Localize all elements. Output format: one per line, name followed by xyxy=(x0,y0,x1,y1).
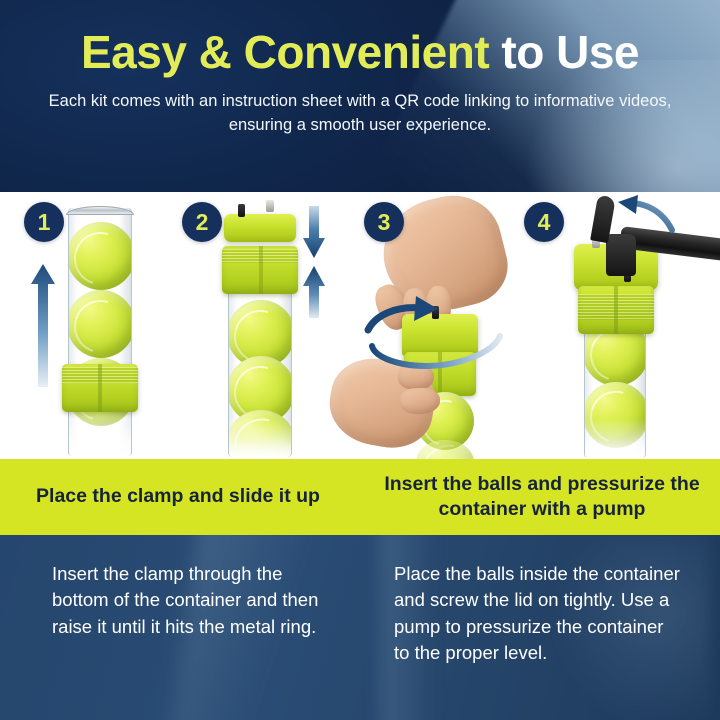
clamp-seam xyxy=(259,246,263,294)
rotate-arrow-icon xyxy=(362,288,508,374)
valve-icon xyxy=(238,204,245,217)
clamp-seam xyxy=(98,364,102,412)
page-title: Easy & Convenient to Use xyxy=(0,28,720,76)
steps-image-strip: 1 2 3 4 xyxy=(0,192,720,459)
tennis-ball xyxy=(228,410,292,457)
ball-tube xyxy=(68,208,132,456)
tennis-ball xyxy=(416,440,474,459)
tennis-ball xyxy=(68,222,132,290)
container-lid xyxy=(224,214,296,242)
header-section: Easy & Convenient to Use Each kit comes … xyxy=(0,0,720,192)
caption-band: Place the clamp and slide it up Insert t… xyxy=(0,459,720,535)
step-badge-3: 3 xyxy=(364,202,404,242)
page-title-highlight: Easy & Convenient xyxy=(81,26,489,78)
description-section: Insert the clamp through the bottom of t… xyxy=(0,535,720,720)
step-badge-4: 4 xyxy=(524,202,564,242)
arrow-down-icon xyxy=(302,204,326,260)
arrow-up-icon xyxy=(30,262,56,387)
pump-head xyxy=(606,234,636,276)
description-right: Place the balls inside the container and… xyxy=(364,535,720,720)
description-left: Insert the clamp through the bottom of t… xyxy=(0,535,364,720)
infographic-page: Easy & Convenient to Use Each kit comes … xyxy=(0,0,720,720)
clamp-ring xyxy=(578,286,654,334)
page-subtitle: Each kit comes with an instruction sheet… xyxy=(0,90,720,137)
step-4-illustration xyxy=(540,192,720,459)
caption-left: Place the clamp and slide it up xyxy=(0,459,356,535)
arrow-up-icon xyxy=(302,264,326,320)
tennis-ball xyxy=(584,382,646,448)
clamp-ring xyxy=(62,364,138,412)
clamp-ring xyxy=(222,246,298,294)
caption-right: Insert the balls and pressurize the cont… xyxy=(356,459,720,535)
valve-metal-icon xyxy=(266,200,274,212)
step-badge-2: 2 xyxy=(182,202,222,242)
tennis-ball xyxy=(68,290,132,358)
step-badge-1: 1 xyxy=(24,202,64,242)
page-title-rest: to Use xyxy=(489,26,639,78)
clamp-seam xyxy=(614,286,618,334)
arrow-left-icon xyxy=(616,194,676,234)
